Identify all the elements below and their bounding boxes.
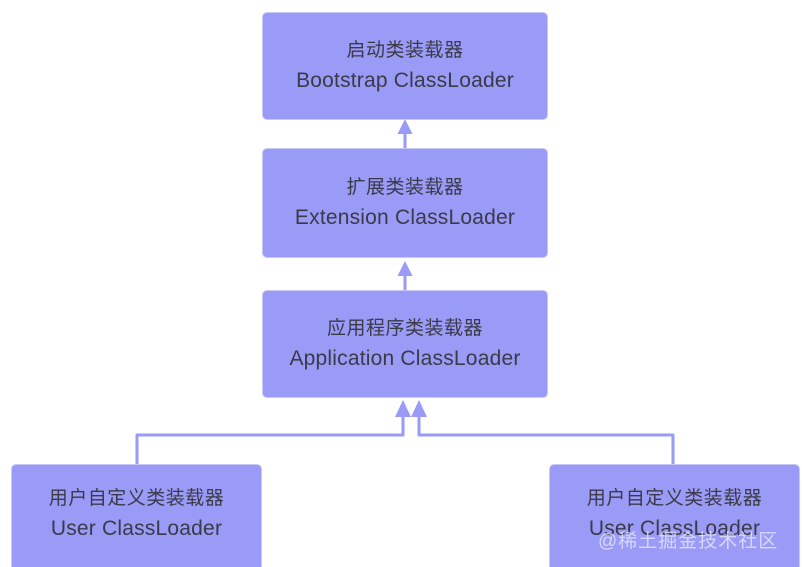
node-extension-label-cn: 扩展类装载器: [346, 173, 463, 203]
classloader-hierarchy-diagram: 启动类装载器 Bootstrap ClassLoader 扩展类装载器 Exte…: [0, 0, 802, 567]
node-user-left-label-cn: 用户自定义类装载器: [49, 484, 225, 514]
node-extension-classloader[interactable]: 扩展类装载器 Extension ClassLoader: [262, 148, 548, 258]
node-bootstrap-label-cn: 启动类装载器: [346, 36, 463, 66]
node-bootstrap-classloader[interactable]: 启动类装载器 Bootstrap ClassLoader: [262, 12, 548, 120]
node-user-classloader-right[interactable]: 用户自定义类装载器 User ClassLoader: [549, 464, 800, 567]
node-user-right-label-en: User ClassLoader: [589, 514, 760, 544]
node-application-label-en: Application ClassLoader: [289, 344, 520, 374]
node-bootstrap-label-en: Bootstrap ClassLoader: [296, 66, 514, 96]
edge-application-to-extension: [398, 261, 413, 290]
edge-extension-to-bootstrap: [398, 119, 413, 148]
node-user-left-label-en: User ClassLoader: [51, 514, 222, 544]
edge-user-left-to-application: [137, 400, 411, 464]
node-user-classloader-left[interactable]: 用户自定义类装载器 User ClassLoader: [11, 464, 262, 567]
node-extension-label-en: Extension ClassLoader: [295, 203, 515, 233]
node-application-label-cn: 应用程序类装载器: [327, 314, 483, 344]
node-application-classloader[interactable]: 应用程序类装载器 Application ClassLoader: [262, 290, 548, 398]
node-user-right-label-cn: 用户自定义类装载器: [587, 484, 763, 514]
edge-user-right-to-application: [411, 400, 673, 464]
